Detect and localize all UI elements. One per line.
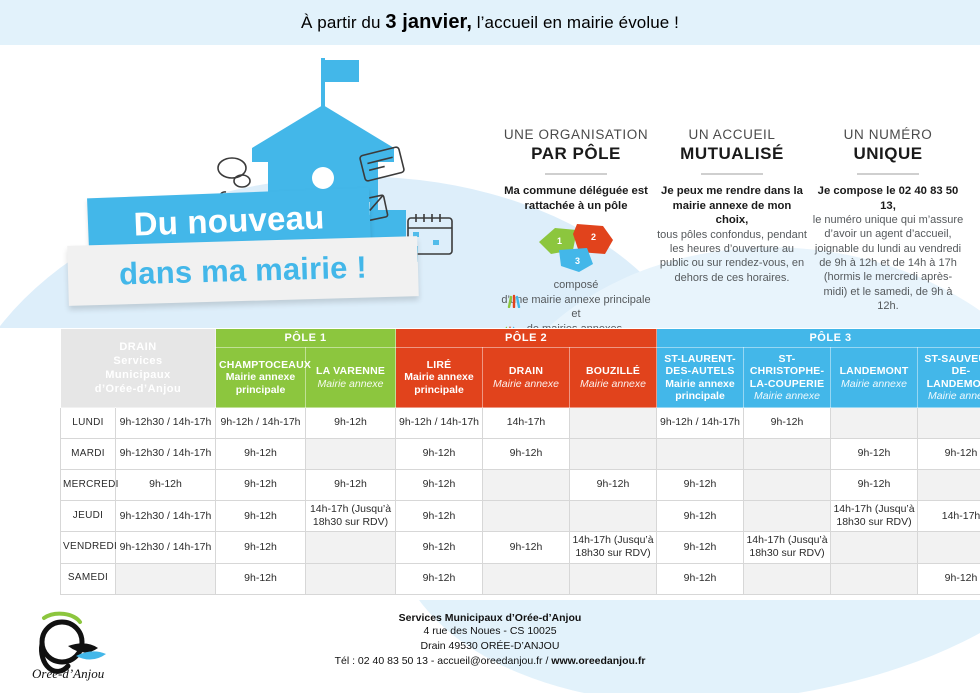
table-row: MERCREDI9h-12h9h-12h9h-12h9h-12h9h-12h9h…: [61, 470, 980, 501]
banner-text: À partir du 3 janvier, l’accueil en mair…: [301, 11, 679, 34]
hours-cell-drain-services: [116, 563, 216, 594]
town-header-st-laurent-des-autels: ST-LAURENT-DES-AUTELS Mairie annexe prin…: [657, 348, 744, 408]
column-divider: [545, 173, 607, 175]
table-head: DRAIN Services Municipaux d’Orée-d’Anjou…: [61, 329, 980, 408]
hero-badge-gray: dans ma mairie !: [67, 236, 419, 306]
pole-header-2: PÔLE 2: [396, 329, 657, 348]
table-row: VENDREDI9h-12h30 / 14h-17h9h-12h9h-12h9h…: [61, 532, 980, 563]
hours-cell: 9h-12h: [216, 501, 306, 532]
hours-cell: [744, 439, 831, 470]
town-name: ST-SAUVEUR-DE-LANDEMONT: [921, 353, 980, 390]
table-row: LUNDI9h-12h30 / 14h-17h9h-12h / 14h-17h9…: [61, 408, 980, 439]
hours-cell-drain-services: 9h-12h30 / 14h-17h: [116, 501, 216, 532]
hours-cell: 9h-12h: [657, 563, 744, 594]
hours-cell: 9h-12h: [744, 408, 831, 439]
hours-cell: [744, 501, 831, 532]
hours-cell-drain-services: 9h-12h30 / 14h-17h: [116, 439, 216, 470]
table-row: JEUDI9h-12h30 / 14h-17h9h-12h14h-17h (Ju…: [61, 501, 980, 532]
town-header-champtoceaux: CHAMPTOCEAUX Mairie annexe principale: [216, 348, 306, 408]
hours-cell: 9h-12h: [396, 439, 483, 470]
day-label: SAMEDI: [61, 563, 116, 594]
banner-highlight: 3 janvier,: [385, 11, 472, 33]
hours-cell: 9h-12h: [216, 532, 306, 563]
footer-text: Services Municipaux d’Orée-d’Anjou 4 rue…: [0, 600, 980, 669]
table-body: LUNDI9h-12h30 / 14h-17h9h-12h / 14h-17h9…: [61, 408, 980, 595]
town-header-st-sauveur-de-landemont: ST-SAUVEUR-DE-LANDEMONT Mairie annexe: [918, 348, 980, 408]
town-sub: Mairie annexe: [573, 378, 653, 390]
table-row: SAMEDI9h-12h9h-12h9h-12h9h-12h: [61, 563, 980, 594]
hours-cell: [831, 532, 918, 563]
town-sub: Mairie annexe: [486, 378, 566, 390]
town-name: LIRÉ: [399, 359, 479, 371]
town-name: ST-LAURENT-DES-AUTELS: [660, 353, 740, 378]
column-title: PAR PÔLE: [500, 144, 652, 164]
pole-header-3: PÔLE 3: [657, 329, 980, 348]
column-divider: [857, 173, 919, 175]
hours-cell: 9h-12h: [396, 470, 483, 501]
hours-cell: 9h-12h: [396, 563, 483, 594]
opening-hours-table: DRAIN Services Municipaux d’Orée-d’Anjou…: [60, 328, 980, 595]
town-name: LANDEMONT: [834, 365, 914, 377]
first-header-line-3: Municipaux: [61, 368, 215, 382]
hours-cell: 14h-17h (Jusqu’à 18h30 sur RDV): [831, 501, 918, 532]
column-kicker: UN NUMÉRO: [812, 127, 964, 144]
town-header-drain: DRAIN Mairie annexe: [483, 348, 570, 408]
info-columns: UNE ORGANISATION PAR PÔLE Ma commune dél…: [500, 127, 968, 328]
banner-suffix: l’accueil en mairie évolue !: [472, 13, 679, 32]
town-sub: Mairie annexe principale: [660, 378, 740, 403]
hours-cell: [483, 563, 570, 594]
first-header-line-2: Services: [61, 354, 215, 368]
top-banner: À partir du 3 janvier, l’accueil en mair…: [0, 0, 980, 45]
table-row: MARDI9h-12h30 / 14h-17h9h-12h9h-12h9h-12…: [61, 439, 980, 470]
hours-cell: 9h-12h: [657, 501, 744, 532]
town-name: CHAMPTOCEAUX: [219, 359, 302, 371]
hero-badge-blue-text: Du nouveau: [133, 198, 325, 243]
column-lead: Ma commune déléguée est rattachée à un p…: [500, 184, 652, 213]
pole-header-1: PÔLE 1: [216, 329, 396, 348]
hours-cell: 14h-17h (Jusqu’à 18h30 sur RDV): [306, 501, 396, 532]
hours-cell: 9h-12h: [918, 439, 980, 470]
column-kicker: UNE ORGANISATION: [500, 127, 652, 144]
town-name: BOUZILLÉ: [573, 365, 653, 377]
hours-cell: 14h-17h (Jusqu’à 18h30 sur RDV): [570, 532, 657, 563]
day-label: MERCREDI: [61, 470, 116, 501]
town-sub: Mairie annexe principale: [399, 371, 479, 396]
hours-cell: [306, 563, 396, 594]
hours-cell: [831, 563, 918, 594]
hours-cell: 14h-17h (Jusqu’à 18h30 sur RDV): [744, 532, 831, 563]
day-label: MARDI: [61, 439, 116, 470]
hours-cell: 9h-12h: [918, 563, 980, 594]
hours-cell: [483, 501, 570, 532]
hours-cell: 9h-12h / 14h-17h: [216, 408, 306, 439]
svg-text:3: 3: [575, 256, 580, 266]
hours-cell-drain-services: 9h-12h30 / 14h-17h: [116, 408, 216, 439]
hours-cell: 9h-12h: [216, 563, 306, 594]
hours-cell: 14h-17h: [483, 408, 570, 439]
town-sub: Mairie annexe: [747, 390, 827, 402]
hours-cell: 9h-12h: [306, 470, 396, 501]
pole-legend: composé d’une mairie annexe principale e…: [500, 278, 652, 328]
day-label: JEUDI: [61, 501, 116, 532]
hours-cell: [918, 408, 980, 439]
footer-line-4: Tél : 02 40 83 50 13 - accueil@oreedanjo…: [0, 654, 980, 669]
first-header-line-4: d’Orée-d’Anjou: [61, 382, 215, 396]
town-name: ST-CHRISTOPHE-LA-COUPERIE: [747, 353, 827, 390]
hours-cell: 9h-12h / 14h-17h: [396, 408, 483, 439]
town-sub: Mairie annexe principale: [219, 371, 302, 396]
pole-header-row: DRAIN Services Municipaux d’Orée-d’Anjou…: [61, 329, 980, 348]
hours-cell: 9h-12h: [831, 439, 918, 470]
hours-cell: [918, 532, 980, 563]
mairie-principale-icon: [506, 294, 524, 308]
legend-composed-label: composé: [500, 278, 652, 293]
town-sub: Mairie annexe: [834, 378, 914, 390]
column-title: UNIQUE: [812, 144, 964, 164]
hours-cell: 9h-12h: [216, 470, 306, 501]
hours-cell: [918, 470, 980, 501]
town-header-landemont: LANDEMONT Mairie annexe: [831, 348, 918, 408]
hours-cell: [570, 408, 657, 439]
town-name: DRAIN: [486, 365, 566, 377]
hours-cell: [306, 532, 396, 563]
opening-hours-table-wrap: DRAIN Services Municipaux d’Orée-d’Anjou…: [0, 328, 980, 595]
hours-cell: [744, 470, 831, 501]
info-column-organisation: UNE ORGANISATION PAR PÔLE Ma commune dél…: [500, 127, 652, 328]
hours-cell: [831, 408, 918, 439]
hours-cell: 9h-12h: [306, 408, 396, 439]
town-header-la-varenne: LA VARENNE Mairie annexe: [306, 348, 396, 408]
column-lead: Je peux me rendre dans la mairie annexe …: [656, 184, 808, 227]
pole-map-icon: 1 2 3: [533, 220, 619, 274]
town-name: LA VARENNE: [309, 365, 392, 377]
banner-prefix: À partir du: [301, 13, 385, 32]
town-header-bouzille: BOUZILLÉ Mairie annexe: [570, 348, 657, 408]
hero-section: Du nouveau dans ma mairie ! UNE ORGANISA…: [0, 45, 980, 328]
hours-cell: 9h-12h: [657, 532, 744, 563]
hours-cell: 9h-12h / 14h-17h: [657, 408, 744, 439]
hours-cell: 9h-12h: [396, 501, 483, 532]
first-header-cell: DRAIN Services Municipaux d’Orée-d’Anjou: [61, 329, 216, 408]
column-title: MUTUALISÉ: [656, 144, 808, 164]
hours-cell: [570, 501, 657, 532]
footer-contact: Tél : 02 40 83 50 13 - accueil@oreedanjo…: [335, 655, 552, 667]
info-column-numero: UN NUMÉRO UNIQUE Je compose le 02 40 83 …: [812, 127, 964, 328]
hours-cell: 9h-12h: [657, 470, 744, 501]
hours-cell: 9h-12h: [483, 439, 570, 470]
column-divider: [701, 173, 763, 175]
footer-line-2: 4 rue des Noues - CS 10025: [0, 624, 980, 639]
footer: Orée-d’Anjou Services Municipaux d’Orée-…: [0, 600, 980, 693]
column-kicker: UN ACCUEIL: [656, 127, 808, 144]
hours-cell: 9h-12h: [216, 439, 306, 470]
hours-cell-drain-services: 9h-12h30 / 14h-17h: [116, 532, 216, 563]
town-sub: Mairie annexe: [309, 378, 392, 390]
day-label: LUNDI: [61, 408, 116, 439]
column-body: le numéro unique qui m’assure d’avoir un…: [812, 213, 964, 313]
hours-cell-drain-services: 9h-12h: [116, 470, 216, 501]
footer-line-1: Services Municipaux d’Orée-d’Anjou: [0, 612, 980, 624]
info-column-accueil: UN ACCUEIL MUTUALISÉ Je peux me rendre d…: [656, 127, 808, 328]
hours-cell: 9h-12h: [483, 532, 570, 563]
town-header-st-christophe-la-couperie: ST-CHRISTOPHE-LA-COUPERIE Mairie annexe: [744, 348, 831, 408]
hours-cell: 9h-12h: [570, 470, 657, 501]
footer-website[interactable]: www.oreedanjou.fr: [551, 655, 645, 667]
first-header-line-1: DRAIN: [61, 340, 215, 354]
hours-cell: 14h-17h: [918, 501, 980, 532]
hours-cell: [744, 563, 831, 594]
hours-cell: [657, 439, 744, 470]
legend-et: et: [500, 307, 652, 322]
column-lead: Je compose le 02 40 83 50 13,: [812, 184, 964, 213]
town-sub: Mairie annexe: [921, 390, 980, 402]
day-label: VENDREDI: [61, 532, 116, 563]
hours-cell: [570, 563, 657, 594]
hours-cell: [306, 439, 396, 470]
hero-badge-gray-text: dans ma mairie !: [119, 250, 368, 293]
hours-cell: 9h-12h: [396, 532, 483, 563]
svg-text:2: 2: [591, 232, 596, 242]
town-header-lire: LIRÉ Mairie annexe principale: [396, 348, 483, 408]
svg-text:1: 1: [557, 236, 562, 246]
hours-cell: 9h-12h: [831, 470, 918, 501]
hours-cell: [483, 470, 570, 501]
footer-line-3: Drain 49530 ORÉE-D’ANJOU: [0, 639, 980, 654]
hours-cell: [570, 439, 657, 470]
column-body: tous pôles confondus, pendant les heures…: [656, 228, 808, 285]
